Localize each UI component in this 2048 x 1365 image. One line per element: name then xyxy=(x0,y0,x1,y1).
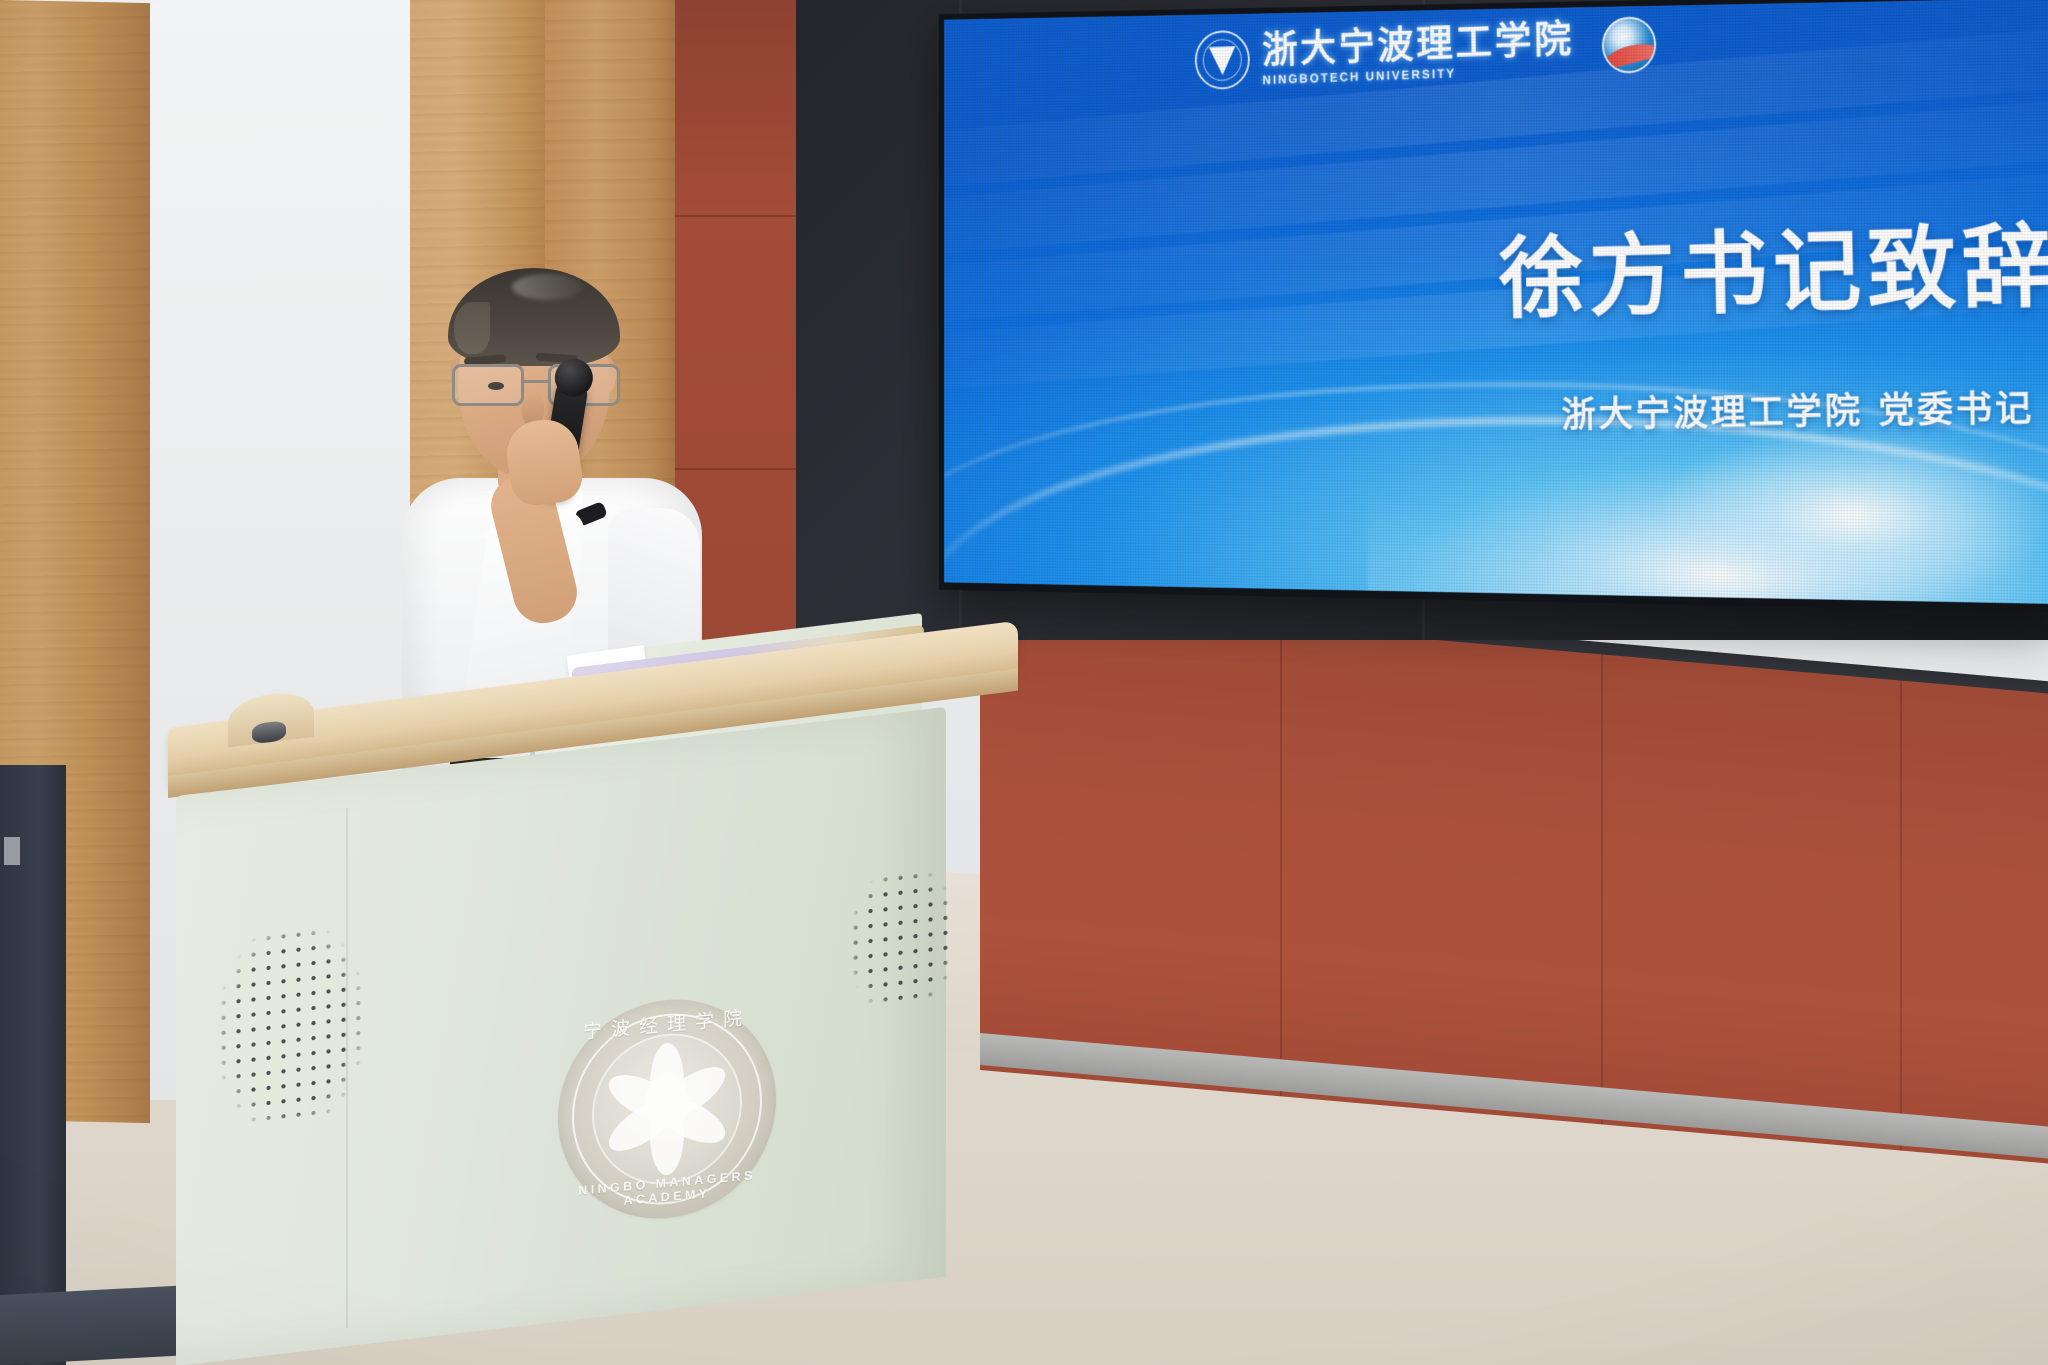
hair-grey-streak xyxy=(512,274,584,300)
academy-emblem: 宁波经理学院 NINGBO MANAGERS ACADEMY xyxy=(558,990,776,1227)
led-video-wall: 浙大宁波理工学院 NINGBOTECH UNIVERSITY 徐方书记致辞 浙大… xyxy=(939,0,2048,612)
led-pixel-grid xyxy=(944,0,2048,604)
cabinet-label-sticker xyxy=(4,837,20,865)
photo-scene: 浙大宁波理工学院 NINGBOTECH UNIVERSITY 徐方书记致辞 浙大… xyxy=(0,0,2048,1365)
dark-cabinet xyxy=(0,765,66,1365)
led-screen-surface: 浙大宁波理工学院 NINGBOTECH UNIVERSITY 徐方书记致辞 浙大… xyxy=(944,0,2048,604)
speaker-grille-icon xyxy=(848,864,958,1016)
speaker-grille-icon xyxy=(216,920,366,1136)
lectern: 宁波经理学院 NINGBO MANAGERS ACADEMY xyxy=(168,648,1018,1365)
